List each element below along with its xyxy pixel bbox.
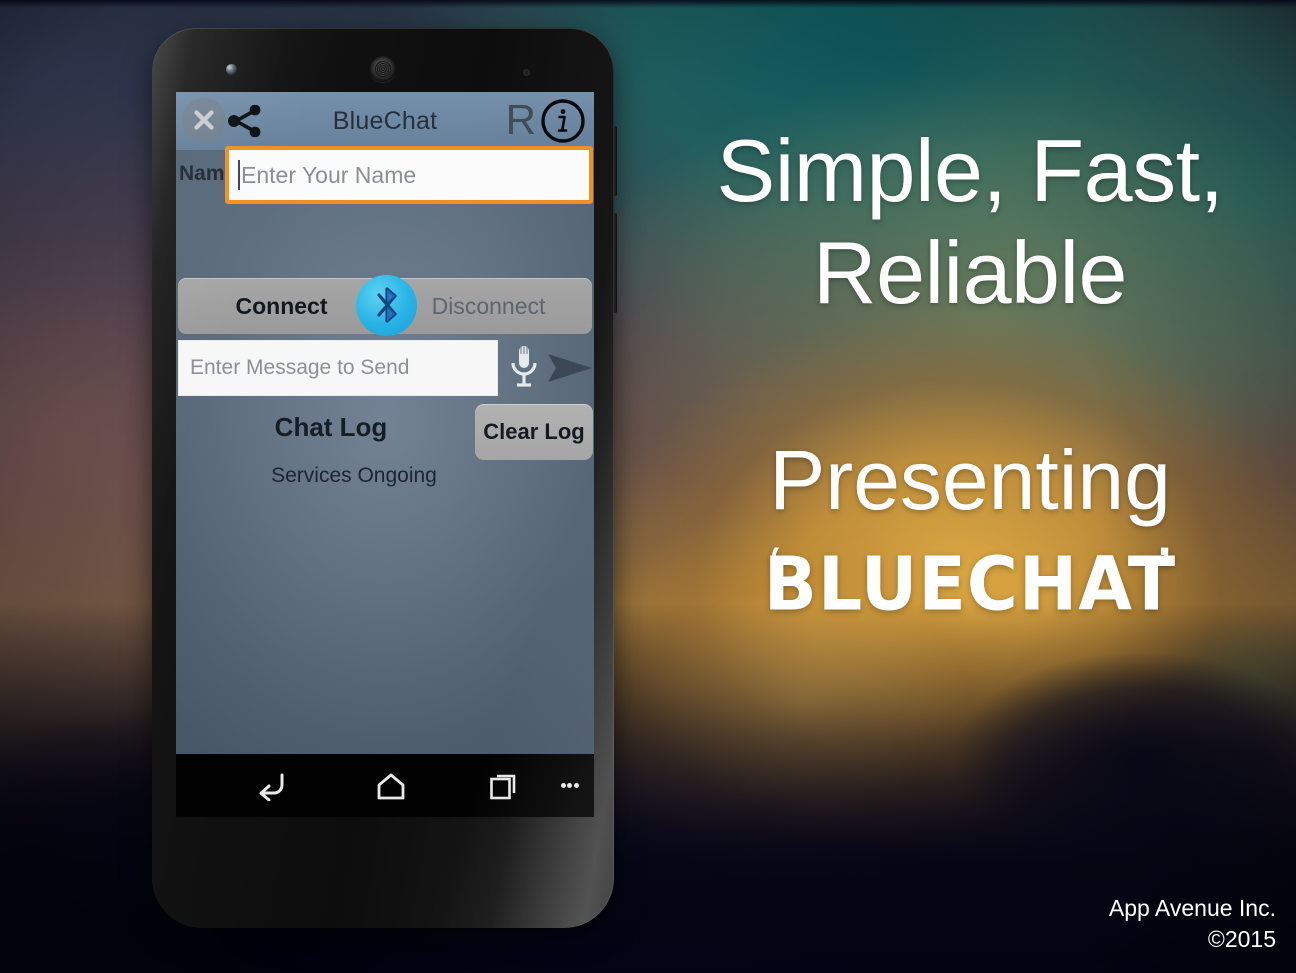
overflow-menu-icon[interactable] <box>560 769 580 803</box>
slide-canvas: Simple, Fast, Reliable Presenting ‘BlueC… <box>0 0 1296 973</box>
info-circle-icon[interactable] <box>540 98 586 144</box>
copyright-credit: App Avenue Inc. ©2015 <box>1109 893 1276 955</box>
message-row: Enter Message to Send <box>178 340 592 396</box>
home-icon[interactable] <box>371 766 411 806</box>
clear-log-button-label: Clear Log <box>483 419 584 445</box>
name-input-placeholder: Enter Your Name <box>241 162 416 189</box>
clear-log-button[interactable]: Clear Log <box>475 404 593 460</box>
phone-body: BlueChat R Name Enter Your Name <box>152 28 614 928</box>
headline-text: Simple, Fast, Reliable <box>660 120 1280 324</box>
background-top-strip <box>0 0 1296 8</box>
front-camera-icon <box>226 64 237 75</box>
service-status-text: Services Ongoing <box>176 464 594 488</box>
overflow-dot <box>561 783 566 788</box>
overflow-dot <box>574 783 579 788</box>
connect-button-label: Connect <box>236 293 328 320</box>
brand-line: ‘BlueChat’ <box>660 535 1280 619</box>
android-nav-bar <box>176 754 594 817</box>
overflow-dot <box>567 783 572 788</box>
record-letter[interactable]: R <box>506 99 536 141</box>
send-arrow-icon[interactable] <box>546 352 594 384</box>
log-header: Chat Log Clear Log <box>176 404 594 460</box>
text-caret <box>238 160 240 190</box>
connect-button[interactable]: Connect <box>178 278 385 334</box>
app-bar: BlueChat R <box>176 92 594 150</box>
back-arrow-icon[interactable] <box>252 766 292 806</box>
name-row: Name Enter Your Name <box>176 146 594 206</box>
microphone-icon[interactable] <box>508 343 540 391</box>
message-input[interactable]: Enter Message to Send <box>178 340 498 396</box>
volume-button[interactable] <box>613 213 617 313</box>
brand-name: BlueChat <box>762 545 1179 623</box>
bluetooth-icon[interactable] <box>356 275 417 336</box>
message-input-placeholder: Enter Message to Send <box>190 356 409 380</box>
power-button[interactable] <box>613 126 617 196</box>
disconnect-button-label: Disconnect <box>432 293 546 320</box>
marketing-copy: Simple, Fast, Reliable Presenting ‘BlueC… <box>660 120 1280 619</box>
connection-row: Connect Disconnect <box>178 278 592 334</box>
recent-apps-icon[interactable] <box>486 768 522 804</box>
phone-mockup: BlueChat R Name Enter Your Name <box>152 28 614 928</box>
name-input[interactable]: Enter Your Name <box>225 146 593 204</box>
phone-screen: BlueChat R Name Enter Your Name <box>176 92 594 817</box>
proximity-sensor-icon <box>523 69 530 76</box>
credit-company: App Avenue Inc. <box>1109 893 1276 924</box>
earpiece-speaker-icon <box>370 56 396 82</box>
credit-year: ©2015 <box>1109 924 1276 955</box>
presenting-label: Presenting <box>660 434 1280 526</box>
